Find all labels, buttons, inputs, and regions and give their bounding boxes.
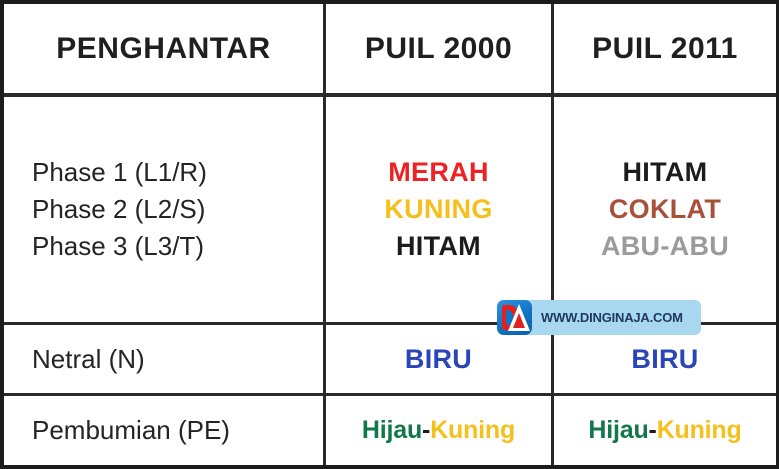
pembumian-label: Pembumian (PE)	[4, 396, 323, 465]
pembumian-puil2011-colour: Hijau-Kuning	[588, 416, 741, 445]
phase-2-label: Phase 2 (L2/S)	[32, 191, 205, 228]
netral-puil-2000-cell: BIRU	[326, 325, 551, 393]
puil2011-phase-2-colour: COKLAT	[609, 191, 721, 228]
column-header-puil-2011: PUIL 2011	[554, 4, 776, 93]
pembumian-puil-2000-cell: Hijau-Kuning	[326, 396, 551, 465]
watermark-badge[interactable]: WWW.DINGINAJA.COM	[497, 300, 701, 335]
puil2011-phase-3-colour: ABU-ABU	[601, 228, 729, 265]
dinginaja-logo-icon	[497, 300, 532, 335]
puil2011-phase-1-colour: HITAM	[623, 154, 708, 191]
logo-a-counter	[513, 313, 525, 328]
conductor-colour-table: PENGHANTAR PUIL 2000 PUIL 2011 Phase 1 (…	[0, 0, 779, 469]
pembumian-puil2011-part1: Hijau	[588, 416, 648, 444]
puil2000-phase-1-colour: MERAH	[388, 154, 489, 191]
column-header-puil-2000: PUIL 2000	[326, 4, 551, 93]
pembumian-puil2000-colour: Hijau-Kuning	[362, 416, 515, 445]
phase-3-label: Phase 3 (L3/T)	[32, 228, 204, 265]
watermark-site-url: WWW.DINGINAJA.COM	[532, 310, 683, 325]
column-header-penghantar: PENGHANTAR	[4, 4, 323, 93]
netral-puil2011-colour: BIRU	[631, 344, 698, 375]
pembumian-puil2000-part2: Kuning	[430, 416, 515, 444]
netral-puil2000-colour: BIRU	[405, 344, 472, 375]
phase-labels-cell: Phase 1 (L1/R) Phase 2 (L2/S) Phase 3 (L…	[4, 97, 323, 322]
pembumian-puil2000-separator: -	[422, 416, 430, 444]
phase-1-label: Phase 1 (L1/R)	[32, 154, 207, 191]
phase-puil-2000-cell: MERAH KUNING HITAM	[326, 97, 551, 322]
puil2000-phase-2-colour: KUNING	[384, 191, 492, 228]
netral-puil-2011-cell: BIRU	[554, 325, 776, 393]
netral-label: Netral (N)	[4, 325, 323, 393]
pembumian-puil2000-part1: Hijau	[362, 416, 422, 444]
phase-puil-2011-cell: HITAM COKLAT ABU-ABU	[554, 97, 776, 322]
pembumian-puil2011-separator: -	[649, 416, 657, 444]
pembumian-puil-2011-cell: Hijau-Kuning	[554, 396, 776, 465]
pembumian-puil2011-part2: Kuning	[657, 416, 742, 444]
puil2000-phase-3-colour: HITAM	[396, 228, 481, 265]
table-border-bottom	[0, 465, 779, 469]
